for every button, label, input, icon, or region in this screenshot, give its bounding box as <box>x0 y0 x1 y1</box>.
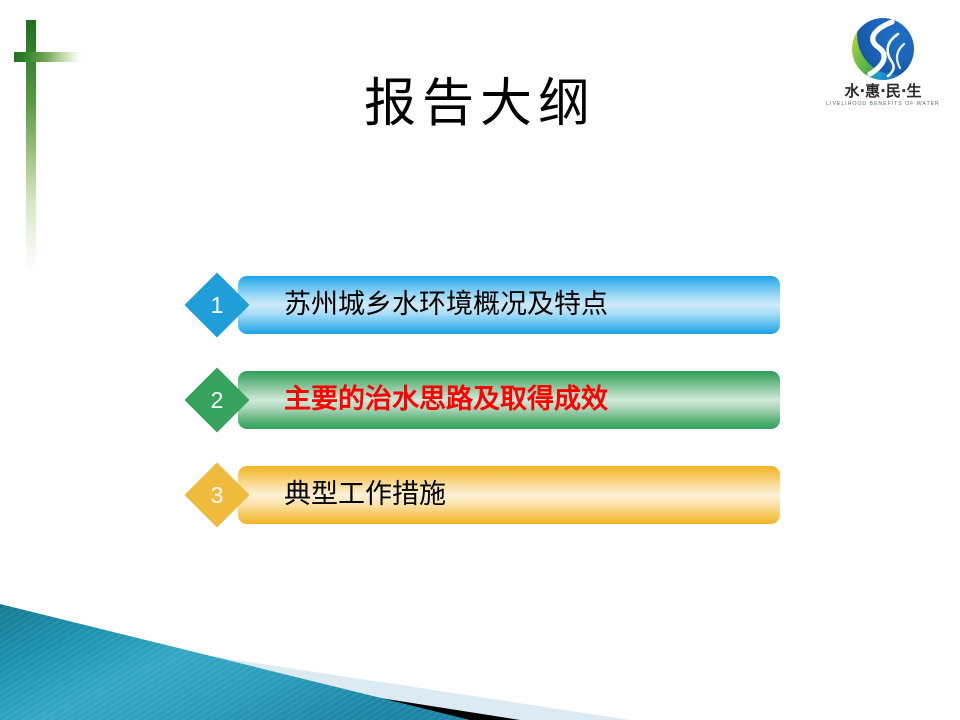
outline-diamond-1: 1 <box>186 274 248 336</box>
outline-number-1: 1 <box>186 274 248 336</box>
outline-item-2[interactable]: 2 主要的治水思路及取得成效 <box>186 371 780 429</box>
outline-item-1[interactable]: 1 苏州城乡水环境概况及特点 <box>186 276 780 334</box>
outline-item-3[interactable]: 3 典型工作措施 <box>186 466 780 524</box>
outline-number-3: 3 <box>186 464 248 526</box>
outline-number-2: 2 <box>186 369 248 431</box>
presentation-slide: 水·惠·民·生 LIVELIHOOD BENEFITS OF WATER 报告大… <box>0 0 960 720</box>
outline-label-2: 主要的治水思路及取得成效 <box>284 371 608 429</box>
outline-list: 1 苏州城乡水环境概况及特点 2 主要的治水思路及取得成效 3 典型工作措施 <box>0 0 960 720</box>
outline-label-3: 典型工作措施 <box>284 466 446 524</box>
outline-diamond-2: 2 <box>186 369 248 431</box>
outline-label-1: 苏州城乡水环境概况及特点 <box>284 276 608 334</box>
outline-diamond-3: 3 <box>186 464 248 526</box>
